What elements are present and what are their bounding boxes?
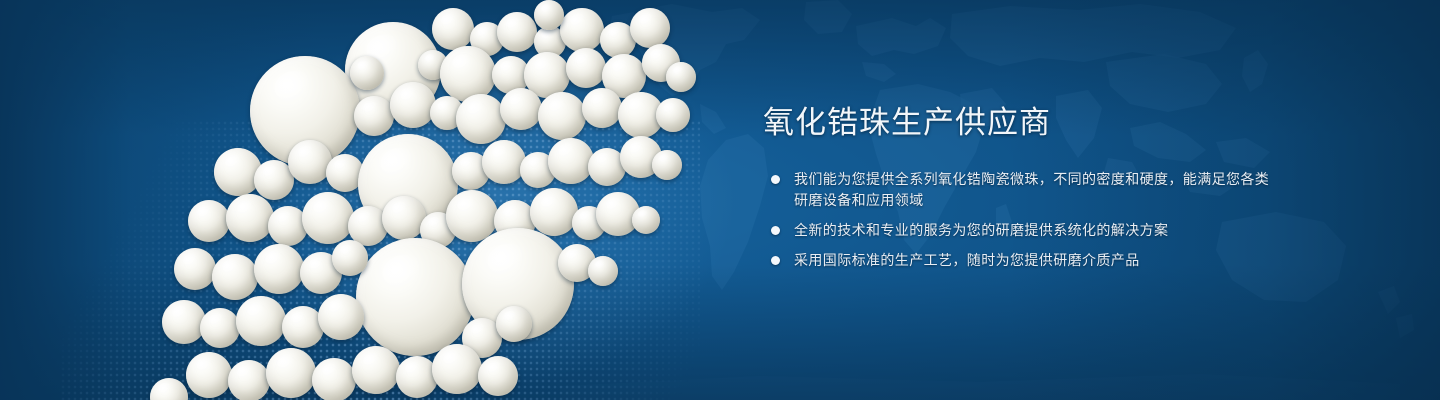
bead — [548, 138, 594, 184]
bead — [226, 194, 274, 242]
bead — [566, 48, 606, 88]
bead — [350, 56, 384, 90]
bead — [318, 294, 364, 340]
bead — [354, 96, 394, 136]
bead — [288, 140, 332, 184]
list-item: 全新的技术和专业的服务为您的研磨提供系统化的解决方案 — [763, 220, 1283, 241]
bead — [582, 88, 622, 128]
bead — [432, 344, 482, 394]
banner-copy-block: 氧化锆珠生产供应商 我们能为您提供全系列氧化锆陶瓷微珠，不同的密度和硬度，能满足… — [763, 104, 1283, 271]
bead — [652, 150, 682, 180]
bead — [482, 140, 526, 184]
bead — [630, 8, 670, 48]
page-title: 氧化锆珠生产供应商 — [763, 104, 1283, 142]
bead — [188, 200, 230, 242]
list-item: 采用国际标准的生产工艺，随时为您提供研磨介质产品 — [763, 250, 1283, 271]
bead — [228, 360, 270, 400]
bead — [538, 92, 586, 140]
bead — [186, 352, 232, 398]
bead — [312, 358, 356, 400]
bead — [478, 356, 518, 396]
bead — [534, 0, 564, 30]
list-item-text: 全新的技术和专业的服务为您的研磨提供系统化的解决方案 — [794, 222, 1168, 238]
bead — [588, 256, 618, 286]
bullet-dot-icon — [771, 226, 780, 235]
bead — [440, 46, 496, 102]
bead — [497, 12, 537, 52]
bead — [456, 94, 506, 144]
bead — [656, 98, 690, 132]
bead — [390, 82, 436, 128]
list-item-text: 采用国际标准的生产工艺，随时为您提供研磨介质产品 — [794, 252, 1140, 268]
bead — [332, 240, 368, 276]
feature-list: 我们能为您提供全系列氧化锆陶瓷微珠，不同的密度和硬度，能满足您各类研磨设备和应用… — [763, 169, 1283, 271]
bead — [560, 8, 604, 52]
bead — [352, 346, 400, 394]
bullet-dot-icon — [771, 175, 780, 184]
list-item-text: 我们能为您提供全系列氧化锆陶瓷微珠，不同的密度和硬度，能满足您各类研磨设备和应用… — [794, 171, 1269, 208]
bead — [496, 306, 532, 342]
list-item: 我们能为您提供全系列氧化锆陶瓷微珠，不同的密度和硬度，能满足您各类研磨设备和应用… — [763, 169, 1283, 211]
bead — [266, 348, 316, 398]
bead — [632, 206, 660, 234]
bead — [356, 238, 474, 356]
bead — [500, 88, 542, 130]
bead — [432, 8, 474, 50]
hero-banner: 氧化锆珠生产供应商 我们能为您提供全系列氧化锆陶瓷微珠，不同的密度和硬度，能满足… — [0, 0, 1440, 400]
bead — [150, 378, 188, 400]
bead — [174, 248, 216, 290]
zirconia-beads-image — [0, 0, 760, 400]
bead — [236, 296, 286, 346]
bead — [530, 188, 578, 236]
bead — [200, 308, 240, 348]
bead — [254, 244, 304, 294]
bead — [302, 192, 354, 244]
bead — [666, 62, 696, 92]
bullet-dot-icon — [771, 256, 780, 265]
bead — [162, 300, 206, 344]
bead — [212, 254, 258, 300]
